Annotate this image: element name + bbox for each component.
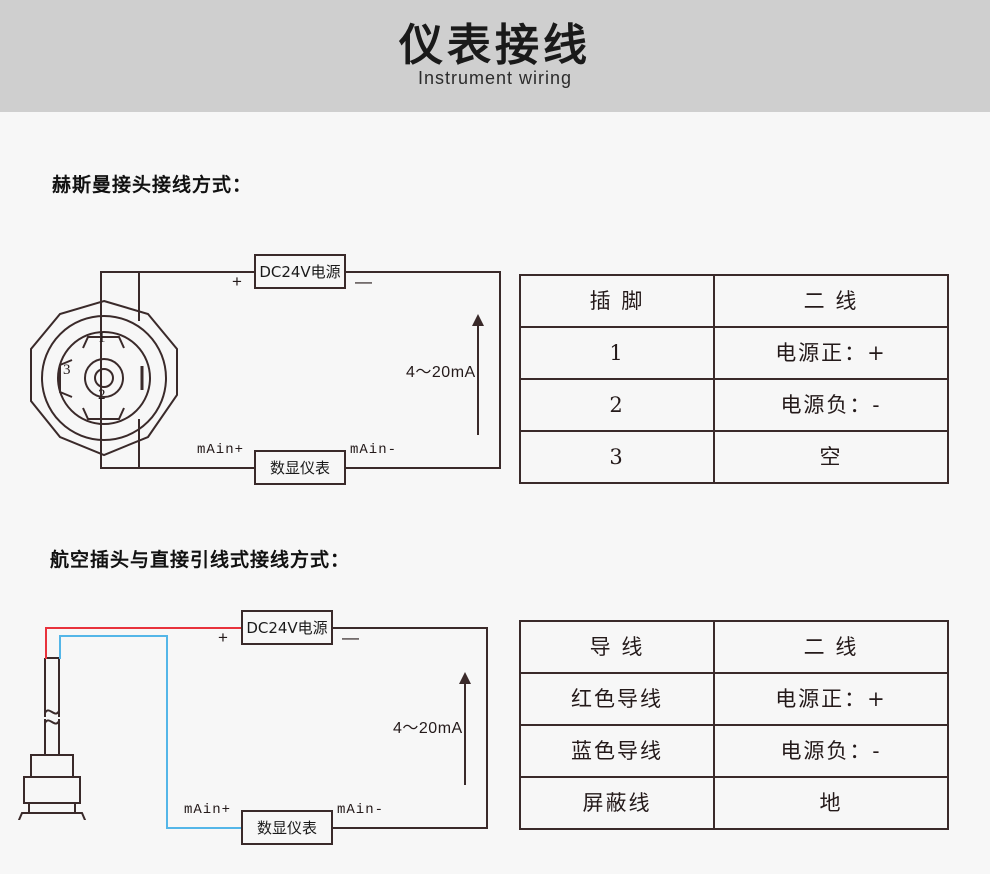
table-header-cell: 二 线: [714, 275, 948, 327]
table-cell: 2: [520, 379, 714, 431]
table-row: 屏蔽线 地: [520, 777, 948, 829]
red-wire-horizontal: [45, 627, 241, 629]
power-minus-sign: —: [355, 272, 372, 292]
sensor-probe-graphic: [14, 655, 104, 825]
wire-meter-minus-out: [346, 467, 501, 469]
blue-wire-horizontal-top: [59, 635, 168, 637]
table-header-row: 插 脚 二 线: [520, 275, 948, 327]
wire-pin1-drop: [138, 271, 140, 321]
digital-meter-box-2: 数显仪表: [241, 810, 333, 845]
current-range-label-2: 4～20mA: [393, 714, 463, 738]
meter-input-minus-label: mAin-: [350, 442, 397, 458]
table-cell: 屏蔽线: [520, 777, 714, 829]
wire-color-table: 导 线 二 线 红色导线 电源正：+ 蓝色导线 电源负：- 屏蔽线 地: [519, 620, 949, 830]
meter-input-plus-label: mAin+: [197, 442, 244, 458]
wire-right-vertical: [499, 271, 501, 468]
table-cell: 3: [520, 431, 714, 483]
connector-pin-label-1: 1: [98, 330, 107, 347]
section-heading-aviation-plug: 航空插头与直接引线式接线方式：: [50, 545, 350, 572]
wire-left-vertical: [100, 271, 102, 469]
current-arrow-head-2: [459, 672, 471, 684]
table-row: 蓝色导线 电源负：-: [520, 725, 948, 777]
table-cell: 空: [714, 431, 948, 483]
page-title: 仪表接线: [399, 23, 591, 69]
table-cell: 电源正：+: [714, 673, 948, 725]
table-row: 3 空: [520, 431, 948, 483]
table-row: 红色导线 电源正：+: [520, 673, 948, 725]
meter-input-minus-label-2: mAin-: [337, 802, 384, 818]
table-row: 1 电源正：+: [520, 327, 948, 379]
hirschmann-connector-graphic: [14, 295, 194, 468]
wire-pin2-to-meter-bottom: [100, 467, 254, 469]
wire-pin1-to-power-top: [100, 271, 254, 273]
page-banner: 仪表接线 Instrument wiring: [0, 0, 990, 112]
current-arrow-shaft: [477, 325, 479, 435]
digital-meter-box: 数显仪表: [254, 450, 346, 485]
power-supply-box-2: DC24V电源: [241, 610, 333, 645]
section-heading-hirschmann: 赫斯曼接头接线方式：: [52, 170, 252, 197]
connector-pin-label-2: 2: [98, 387, 107, 404]
table-cell: 蓝色导线: [520, 725, 714, 777]
table-header-row: 导 线 二 线: [520, 621, 948, 673]
table-header-cell: 插 脚: [520, 275, 714, 327]
table-cell: 1: [520, 327, 714, 379]
table-cell: 电源负：-: [714, 379, 948, 431]
current-arrow-head: [472, 314, 484, 326]
table-row: 2 电源负：-: [520, 379, 948, 431]
wire-pin2-drop: [138, 419, 140, 468]
wire2-right-vertical: [486, 627, 488, 828]
current-arrow-shaft-2: [464, 683, 466, 785]
power-supply-box: DC24V电源: [254, 254, 346, 289]
wire2-meter-minus-out: [333, 827, 488, 829]
table-cell: 电源负：-: [714, 725, 948, 777]
meter-input-plus-label-2: mAin+: [184, 802, 231, 818]
table-header-cell: 导 线: [520, 621, 714, 673]
table-cell: 电源正：+: [714, 327, 948, 379]
current-range-label: 4～20mA: [406, 358, 476, 382]
blue-wire-vertical-top: [59, 635, 61, 659]
power-minus-sign-2: —: [342, 628, 359, 648]
power-plus-sign: +: [232, 272, 242, 292]
blue-wire-horizontal-bottom: [166, 827, 241, 829]
table-header-cell: 二 线: [714, 621, 948, 673]
table-cell: 地: [714, 777, 948, 829]
red-wire-vertical: [45, 627, 47, 659]
page-subtitle: Instrument wiring: [418, 68, 572, 89]
power-plus-sign-2: +: [218, 628, 228, 648]
blue-wire-vertical-down: [166, 635, 168, 828]
banner-content: 仪表接线 Instrument wiring: [0, 0, 990, 112]
table-cell: 红色导线: [520, 673, 714, 725]
pin-assignment-table: 插 脚 二 线 1 电源正：+ 2 电源负：- 3 空: [519, 274, 949, 484]
connector-pin-label-3: 3: [63, 362, 72, 379]
